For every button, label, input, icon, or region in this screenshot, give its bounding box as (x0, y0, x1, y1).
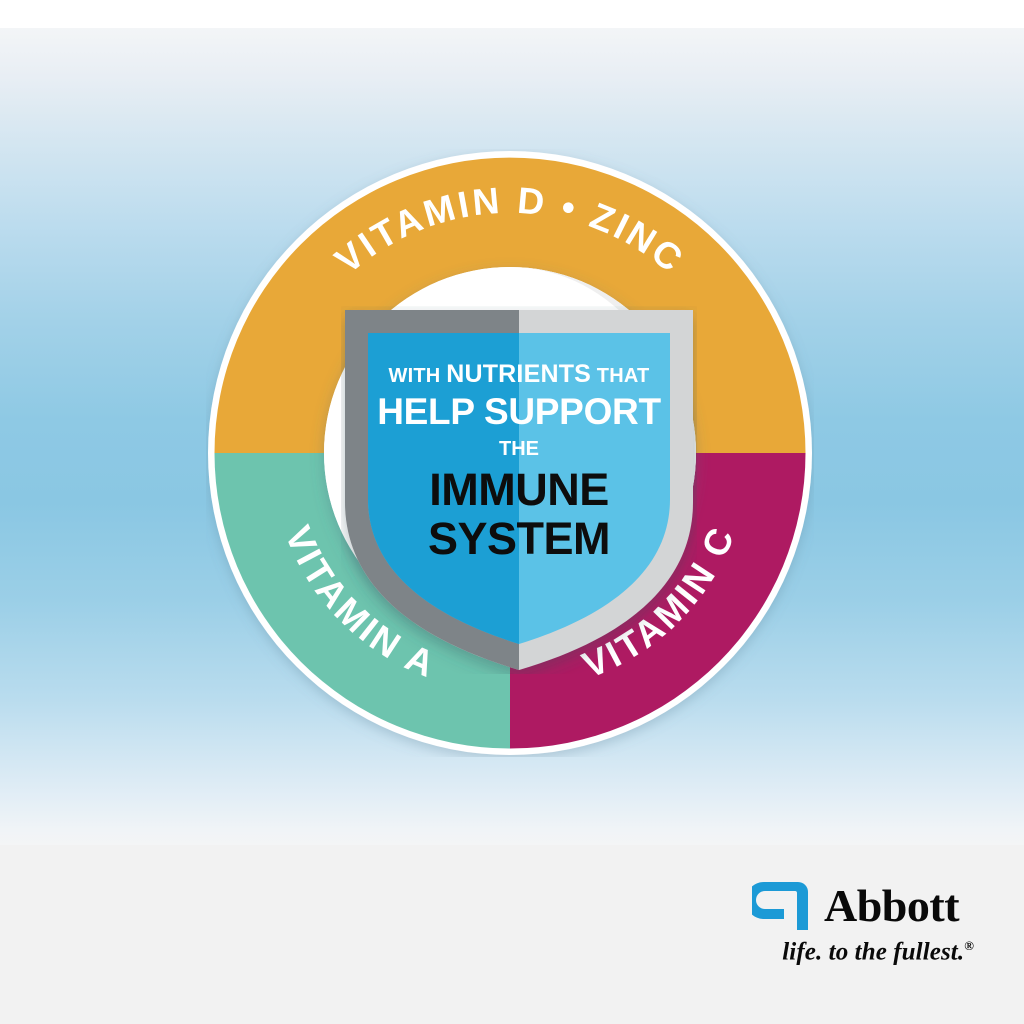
abbott-tagline: life. to the fullest.® (752, 938, 974, 966)
abbott-logo: Abbott life. to the fullest.® (752, 879, 974, 967)
registered-mark: ® (964, 938, 974, 953)
abbott-a-symbol-icon (752, 880, 810, 932)
immune-shield (341, 306, 697, 674)
abbott-tagline-text: life. to the fullest. (782, 938, 964, 965)
promotional-graphic: VITAMIN D • ZINC VITAMIN A VITAMIN C (0, 0, 1024, 1024)
abbott-wordmark: Abbott (824, 883, 959, 929)
abbott-logo-row: Abbott (752, 879, 974, 933)
background-top-band (0, 0, 1024, 28)
